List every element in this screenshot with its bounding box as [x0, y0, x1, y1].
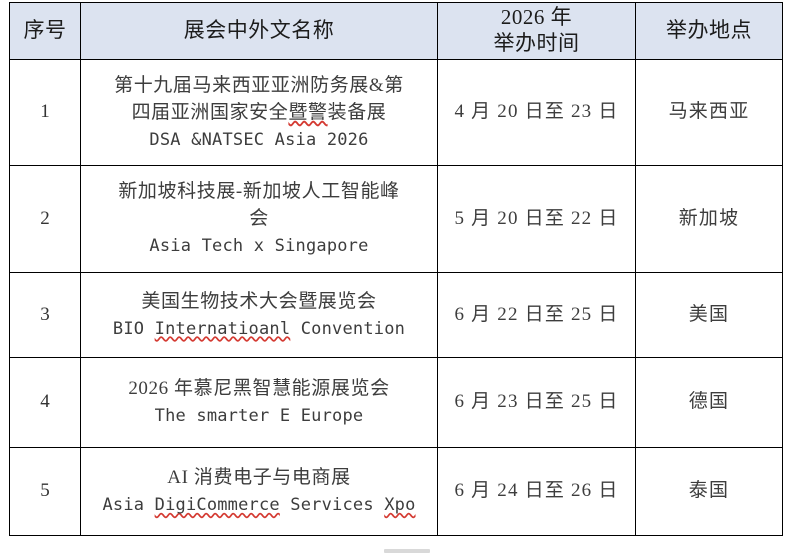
- table-body: 1 第十九届马来西亚亚洲防务展&第 四届亚洲国家安全暨警装备展 DSA &NAT…: [10, 60, 783, 536]
- cell-seq: 3: [10, 273, 81, 358]
- cell-name: 2026 年慕尼黑智慧能源展览会 The smarter E Europe: [81, 358, 438, 448]
- table-header: 序号 展会中外文名称 2026 年 举办时间 举办地点: [10, 3, 783, 60]
- column-header-date: 2026 年 举办时间: [438, 3, 636, 60]
- name-cn-segment: 装备展: [328, 102, 387, 123]
- exhibition-name-en: BIO Internatioanl Convention: [95, 317, 423, 341]
- cell-name: AI 消费电子与电商展 Asia DigiCommerce Services X…: [81, 448, 438, 536]
- column-header-name: 展会中外文名称: [81, 3, 438, 60]
- page-bottom-artifact: [384, 549, 430, 553]
- cell-seq: 4: [10, 358, 81, 448]
- exhibition-name-cn-line1: 2026 年慕尼黑智慧能源展览会: [95, 376, 423, 403]
- cell-seq: 2: [10, 166, 81, 273]
- cell-seq: 1: [10, 60, 81, 166]
- cell-name: 新加坡科技展-新加坡人工智能峰 会 Asia Tech x Singapore: [81, 166, 438, 273]
- exhibition-name-en: DSA &NATSEC Asia 2026: [95, 128, 423, 152]
- exhibition-name-en: Asia DigiCommerce Services Xpo: [95, 493, 423, 517]
- cell-date: 6 月 24 日至 26 日: [438, 448, 636, 536]
- cell-place: 马来西亚: [636, 60, 783, 166]
- name-en-segment: Asia: [102, 495, 154, 515]
- exhibition-name-cn-line1: 新加坡科技展-新加坡人工智能峰: [95, 179, 423, 206]
- exhibition-name-cn-line2: 会: [95, 206, 423, 233]
- name-cn-segment-misspelled: 暨警: [288, 102, 327, 123]
- table-row: 4 2026 年慕尼黑智慧能源展览会 The smarter E Europe …: [10, 358, 783, 448]
- table-header-row: 序号 展会中外文名称 2026 年 举办时间 举办地点: [10, 3, 783, 60]
- cell-date: 6 月 23 日至 25 日: [438, 358, 636, 448]
- exhibition-name-en: Asia Tech x Singapore: [95, 234, 423, 258]
- table-row: 5 AI 消费电子与电商展 Asia DigiCommerce Services…: [10, 448, 783, 536]
- name-en-segment-misspelled: Xpo: [384, 495, 415, 515]
- column-header-seq-label: 序号: [10, 18, 80, 44]
- exhibition-name-en: The smarter E Europe: [95, 404, 423, 428]
- column-header-date-label-line1: 2026 年: [438, 5, 635, 31]
- name-en-segment: Services: [280, 495, 384, 515]
- table-row: 3 美国生物技术大会暨展览会 BIO Internatioanl Convent…: [10, 273, 783, 358]
- cell-place: 美国: [636, 273, 783, 358]
- cell-date: 4 月 20 日至 23 日: [438, 60, 636, 166]
- cell-date: 6 月 22 日至 25 日: [438, 273, 636, 358]
- cell-date: 5 月 20 日至 22 日: [438, 166, 636, 273]
- cell-place: 泰国: [636, 448, 783, 536]
- cell-place: 新加坡: [636, 166, 783, 273]
- document-sheet: 序号 展会中外文名称 2026 年 举办时间 举办地点 1 第十九届马来西: [0, 0, 790, 557]
- name-cn-segment: 四届亚洲国家安全: [132, 102, 289, 123]
- column-header-place-label: 举办地点: [636, 18, 782, 44]
- exhibition-name-cn-line1: 第十九届马来西亚亚洲防务展&第: [95, 73, 423, 100]
- name-en-segment-misspelled: Internatioanl: [155, 319, 291, 339]
- column-header-place: 举办地点: [636, 3, 783, 60]
- name-en-segment: Convention: [290, 319, 405, 339]
- exhibition-name-cn-line1: AI 消费电子与电商展: [95, 465, 423, 492]
- cell-place: 德国: [636, 358, 783, 448]
- exhibition-name-cn-line2: 四届亚洲国家安全暨警装备展: [95, 100, 423, 127]
- cell-name: 第十九届马来西亚亚洲防务展&第 四届亚洲国家安全暨警装备展 DSA &NATSE…: [81, 60, 438, 166]
- table-row: 1 第十九届马来西亚亚洲防务展&第 四届亚洲国家安全暨警装备展 DSA &NAT…: [10, 60, 783, 166]
- name-en-segment-misspelled: DigiCommerce: [155, 495, 280, 515]
- column-header-name-label: 展会中外文名称: [81, 18, 437, 44]
- cell-seq: 5: [10, 448, 81, 536]
- column-header-date-label-line2: 举办时间: [438, 31, 635, 57]
- exhibition-name-cn-line1: 美国生物技术大会暨展览会: [95, 289, 423, 316]
- name-en-segment: BIO: [113, 319, 155, 339]
- table-row: 2 新加坡科技展-新加坡人工智能峰 会 Asia Tech x Singapor…: [10, 166, 783, 273]
- exhibition-schedule-table: 序号 展会中外文名称 2026 年 举办时间 举办地点 1 第十九届马来西: [9, 2, 783, 536]
- cell-name: 美国生物技术大会暨展览会 BIO Internatioanl Conventio…: [81, 273, 438, 358]
- column-header-seq: 序号: [10, 3, 81, 60]
